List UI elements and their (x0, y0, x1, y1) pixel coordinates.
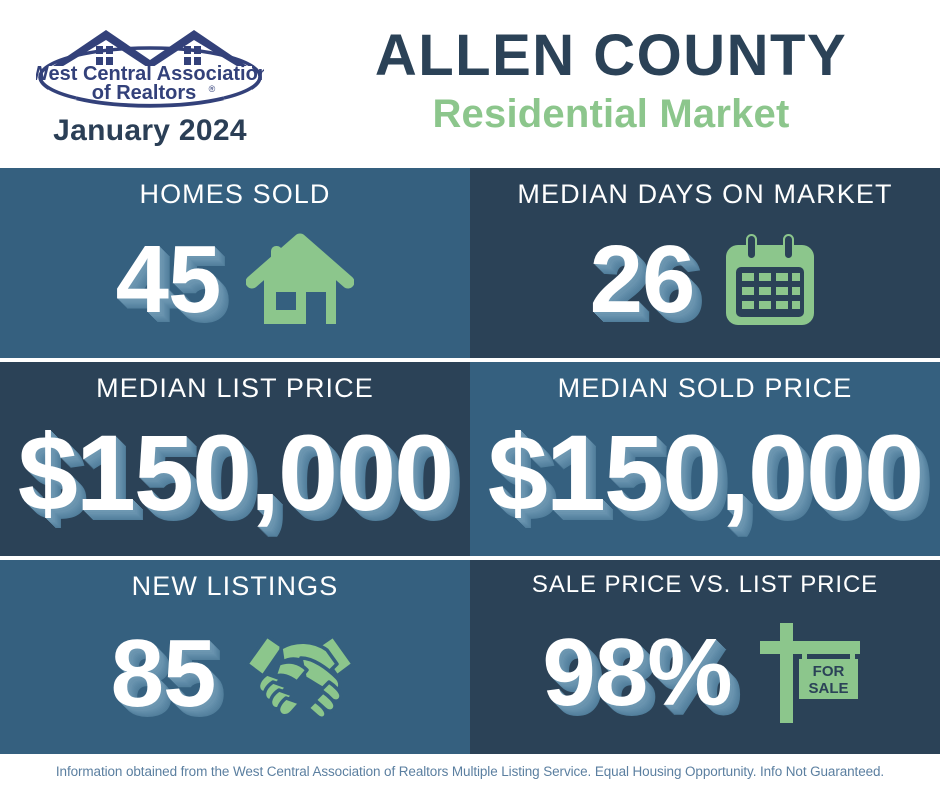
stat-panel-median-days-on-market: MEDIAN DAYS ON MARKET 26 (470, 168, 940, 358)
sign-line2: SALE (808, 680, 848, 697)
stat-value: 26 (590, 232, 695, 328)
for-sale-sign-icon: FOR SALE (758, 621, 868, 725)
logo-registered-mark: ® (209, 84, 216, 94)
stat-body: 26 (470, 210, 940, 358)
page-subtitle: Residential Market (300, 93, 922, 135)
house-icon (246, 230, 354, 330)
stat-panel-sale-price-vs-list-price: SALE PRICE VS. LIST PRICE 98% FOR (470, 556, 940, 754)
page-title: ALLEN COUNTY (300, 26, 922, 87)
brand-block: West Central Association of Realtors ® J… (0, 0, 300, 148)
market-report-infographic: West Central Association of Realtors ® J… (0, 0, 940, 788)
stat-label: SALE PRICE VS. LIST PRICE (532, 571, 878, 599)
sign-line1: FOR (812, 663, 844, 680)
stat-body: 98% FOR SALE (470, 599, 940, 754)
stat-label: MEDIAN SOLD PRICE (558, 373, 853, 404)
stat-value: $150,000 (18, 419, 452, 527)
stat-panel-homes-sold: HOMES SOLD 45 (0, 168, 470, 358)
stat-value: 98% (542, 625, 731, 721)
stat-body: $150,000 (0, 404, 470, 556)
disclaimer-text: Information obtained from the West Centr… (56, 764, 884, 779)
stat-body: $150,000 (470, 404, 940, 556)
stat-panel-median-sold-price: MEDIAN SOLD PRICE $150,000 (470, 358, 940, 556)
stat-label: HOMES SOLD (139, 179, 330, 210)
stat-value: 45 (116, 232, 221, 328)
title-block: ALLEN COUNTY Residential Market (300, 0, 940, 135)
stat-value: 85 (111, 626, 216, 722)
stat-body: 45 (0, 210, 470, 358)
calendar-icon (720, 230, 820, 330)
logo-line2: of Realtors (92, 82, 196, 104)
stat-label: MEDIAN DAYS ON MARKET (517, 179, 892, 210)
stat-panel-new-listings: NEW LISTINGS 85 (0, 556, 470, 754)
footer: Information obtained from the West Centr… (0, 754, 940, 788)
stat-label: MEDIAN LIST PRICE (96, 373, 374, 404)
header: West Central Association of Realtors ® J… (0, 0, 940, 168)
stat-body: 85 (0, 602, 470, 754)
stats-grid: HOMES SOLD 45 (0, 168, 940, 754)
stat-label: NEW LISTINGS (132, 571, 339, 602)
association-logo: West Central Association of Realtors ® (36, 22, 264, 110)
report-period: January 2024 (53, 114, 247, 148)
handshake-icon (241, 624, 359, 724)
stat-panel-median-list-price: MEDIAN LIST PRICE $150,000 (0, 358, 470, 556)
stat-value: $150,000 (488, 419, 922, 527)
